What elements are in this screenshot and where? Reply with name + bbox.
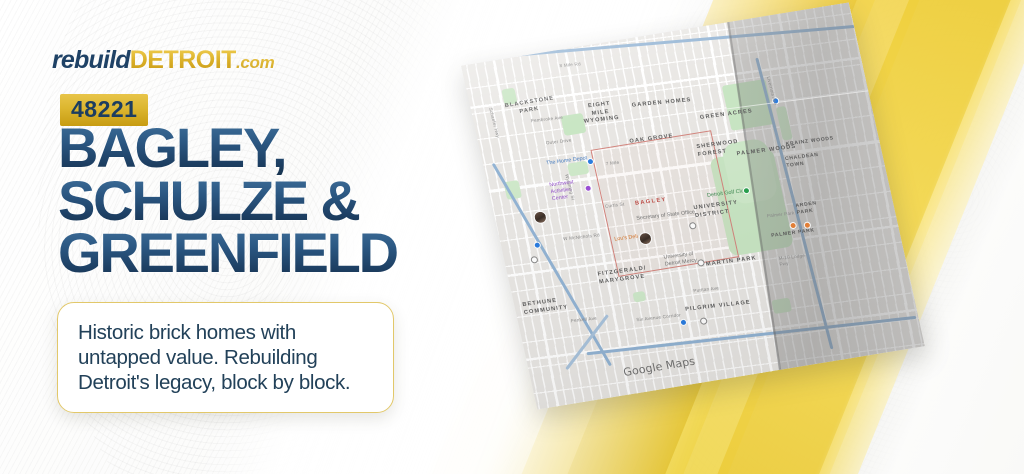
brand-logo[interactable]: rebuildDETROIT.com [52,46,274,75]
headline-line-2: SCHULZE & [58,175,458,228]
headline-line-1: BAGLEY, [58,122,458,175]
folded-map-graphic[interactable]: BLACKSTONE PARK EIGHT MILE WYOMING GARDE… [461,2,925,409]
page-title: BAGLEY, SCHULZE & GREENFIELD [58,122,458,280]
logo-word-detroit: DETROIT [130,46,236,74]
promo-banner: BLACKSTONE PARK EIGHT MILE WYOMING GARDE… [0,0,1024,474]
tagline-card: Historic brick homes with untapped value… [57,302,394,413]
logo-word-com: .com [236,53,274,72]
map-stage: BLACKSTONE PARK EIGHT MILE WYOMING GARDE… [497,30,957,450]
logo-word-rebuild: rebuild [52,46,130,74]
headline-line-3: GREENFIELD [58,227,458,280]
map-label-eight-mile-wyoming: EIGHT MILE WYOMING [579,100,623,127]
content-column: rebuildDETROIT.com 48221 BAGLEY, SCHULZE… [0,0,470,474]
park-mid-south [632,291,646,303]
tagline-text: Historic brick homes with untapped value… [78,321,373,395]
